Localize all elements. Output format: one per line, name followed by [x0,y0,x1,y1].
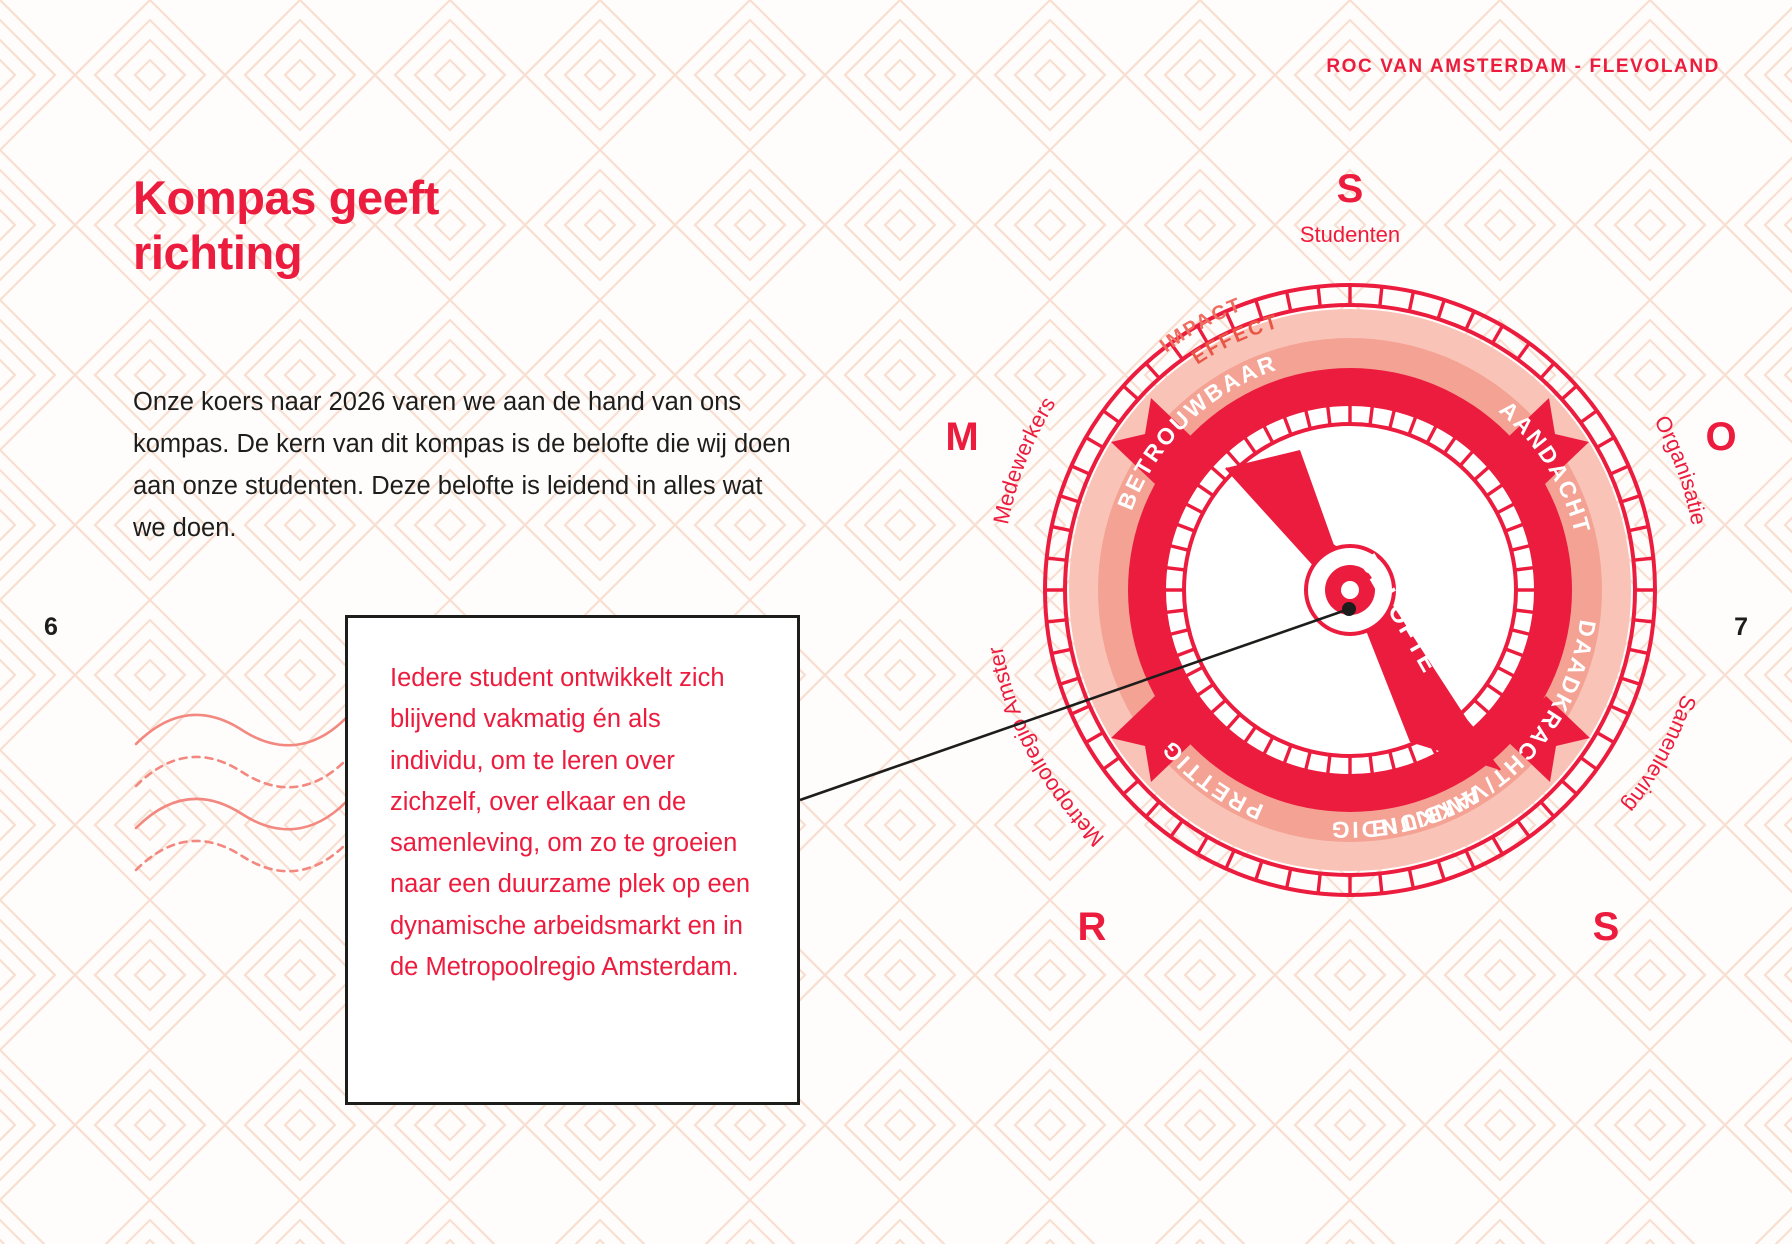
brand-header-label: ROC VAN AMSTERDAM - FLEVOLAND [1326,56,1720,78]
quote-callout-box: Iedere student ontwikkelt zich blijvend … [345,615,800,1105]
cardinal-letter-metropoolregio: R [1078,905,1107,949]
intro-paragraph: Onze koers naar 2026 varen we aan de han… [133,381,798,549]
compass-diagram: IMPACT EFFECT AANDACHT BETROUWBAAR DAADK… [940,150,1760,990]
cardinal-letter-studenten: S [1337,167,1364,211]
squiggle-decoration [130,690,370,890]
cardinal-letter-organisatie: O [1705,415,1736,459]
cardinal-letter-medewerkers: M [945,415,978,459]
page-title: Kompas geeft richting [133,171,439,280]
cardinal-word-organisatie: Organisatie [1649,411,1711,527]
page-number-right: 7 [1734,613,1748,642]
cardinal-word-medewerkers: Medewerkers [988,392,1060,526]
cardinal-word-studenten: Studenten [1300,222,1400,247]
quote-text: Iedere student ontwikkelt zich blijvend … [390,658,760,988]
cardinal-letter-samenleving: S [1593,905,1620,949]
page-number-left: 6 [44,613,58,642]
cardinal-word-metropoolregio: Metropoolregio Amsterdam [940,150,1109,852]
